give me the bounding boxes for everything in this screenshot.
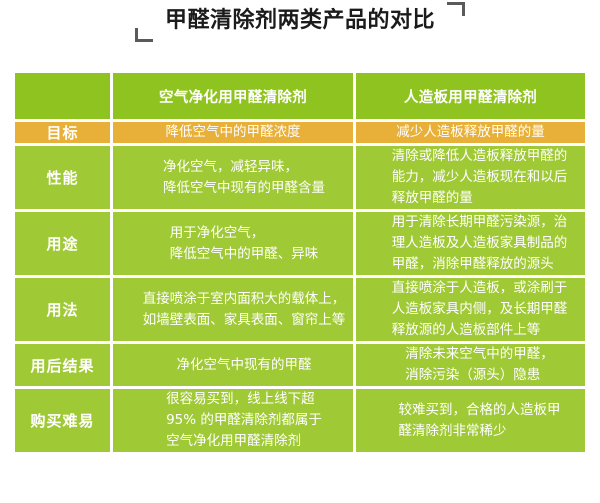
cell-text-line: 消除污染（源头）隐患	[405, 365, 554, 386]
corner-bracket-bottom-left-icon	[135, 28, 153, 42]
cell-air-1: 净化空气，减轻异味，降低空气中现有的甲醛含量	[113, 146, 353, 209]
cell-text-line: 醛清除剂非常稀少	[399, 421, 561, 442]
cell-text-line: 空气净化用甲醛清除剂	[166, 431, 322, 452]
row-label-1: 性能	[15, 146, 110, 209]
cell-text-line: 净化空气中现有的甲醛	[177, 355, 312, 376]
cell-text-block: 清除未来空气中的甲醛，消除污染（源头）隐患	[405, 344, 554, 386]
row-label-0: 目标	[15, 122, 110, 143]
cell-text-line: 降低空气中现有的甲醛含量	[163, 178, 325, 199]
cell-text-line: 释放源的人造板部件上等	[392, 320, 568, 341]
table-row: 性能净化空气，减轻异味，降低空气中现有的甲醛含量清除或降低人造板释放甲醛的能力，…	[15, 146, 585, 209]
cell-text-line: 理人造板及人造板家具制品的	[392, 233, 568, 254]
cell-text-line: 降低空气中的甲醛、异味	[170, 244, 319, 265]
corner-bracket-top-right-icon	[447, 2, 465, 16]
cell-text-block: 直接喷涂于室内面积大的载体上，如墙壁表面、家具表面、窗帘上等	[143, 289, 346, 331]
cell-text-line: 甲醛，消除甲醛释放的源头	[392, 254, 568, 275]
cell-text-block: 较难买到，合格的人造板甲醛清除剂非常稀少	[399, 400, 561, 442]
cell-board-0: 减少人造板释放甲醛的量	[356, 122, 585, 143]
cell-board-5: 较难买到，合格的人造板甲醛清除剂非常稀少	[356, 389, 585, 452]
cell-text-line: 95% 的甲醛清除剂都属于	[166, 410, 322, 431]
cell-text-line: 用于清除长期甲醛污染源，治	[392, 212, 568, 233]
cell-text-block: 用于净化空气，降低空气中的甲醛、异味	[170, 223, 319, 265]
cell-text-block: 直接喷涂于人造板，或涂刷于人造板家具内侧，及长期甲醛释放源的人造板部件上等	[392, 278, 568, 341]
cell-text-block: 很容易买到，线上线下超95% 的甲醛清除剂都属于空气净化用甲醛清除剂	[166, 389, 322, 452]
comparison-table: 空气净化用甲醛清除剂人造板用甲醛清除剂目标降低空气中的甲醛浓度减少人造板释放甲醛…	[12, 70, 588, 455]
cell-text-line: 较难买到，合格的人造板甲	[399, 400, 561, 421]
cell-text-line: 很容易买到，线上线下超	[166, 389, 322, 410]
cell-text-line: 人造板家具内侧，及长期甲醛	[392, 299, 568, 320]
cell-text-line: 清除未来空气中的甲醛，	[405, 344, 554, 365]
table-header-row: 空气净化用甲醛清除剂人造板用甲醛清除剂	[15, 73, 585, 119]
column-header-air: 空气净化用甲醛清除剂	[113, 73, 353, 119]
cell-text-line: 如墙壁表面、家具表面、窗帘上等	[143, 310, 346, 331]
cell-air-2: 用于净化空气，降低空气中的甲醛、异味	[113, 212, 353, 275]
table-row: 目标降低空气中的甲醛浓度减少人造板释放甲醛的量	[15, 122, 585, 143]
table-row: 用途用于净化空气，降低空气中的甲醛、异味用于清除长期甲醛污染源，治理人造板及人造…	[15, 212, 585, 275]
cell-text-line: 用于净化空气，	[170, 223, 319, 244]
cell-air-5: 很容易买到，线上线下超95% 的甲醛清除剂都属于空气净化用甲醛清除剂	[113, 389, 353, 452]
cell-board-3: 直接喷涂于人造板，或涂刷于人造板家具内侧，及长期甲醛释放源的人造板部件上等	[356, 278, 585, 341]
table-row: 用后结果净化空气中现有的甲醛清除未来空气中的甲醛，消除污染（源头）隐患	[15, 344, 585, 386]
cell-text-line: 直接喷涂于人造板，或涂刷于	[392, 278, 568, 299]
row-label-3: 用法	[15, 278, 110, 341]
row-label-5: 购买难易	[15, 389, 110, 452]
cell-air-0: 降低空气中的甲醛浓度	[113, 122, 353, 143]
page-title-area: 甲醛清除剂两类产品的对比	[0, 0, 600, 62]
page-title: 甲醛清除剂两类产品的对比	[165, 6, 435, 36]
cell-text-line: 能力，减少人造板现在和以后	[392, 167, 568, 188]
cell-text-block: 用于清除长期甲醛污染源，治理人造板及人造板家具制品的甲醛，消除甲醛释放的源头	[392, 212, 568, 275]
cell-text-block: 净化空气中现有的甲醛	[177, 355, 312, 376]
cell-air-3: 直接喷涂于室内面积大的载体上，如墙壁表面、家具表面、窗帘上等	[113, 278, 353, 341]
table-row: 购买难易很容易买到，线上线下超95% 的甲醛清除剂都属于空气净化用甲醛清除剂较难…	[15, 389, 585, 452]
cell-text-block: 净化空气，减轻异味，降低空气中现有的甲醛含量	[163, 157, 325, 199]
cell-air-4: 净化空气中现有的甲醛	[113, 344, 353, 386]
cell-board-1: 清除或降低人造板释放甲醛的能力，减少人造板现在和以后释放甲醛的量	[356, 146, 585, 209]
cell-text-line: 直接喷涂于室内面积大的载体上，	[143, 289, 346, 310]
row-label-2: 用途	[15, 212, 110, 275]
row-label-4: 用后结果	[15, 344, 110, 386]
cell-board-2: 用于清除长期甲醛污染源，治理人造板及人造板家具制品的甲醛，消除甲醛释放的源头	[356, 212, 585, 275]
cell-text-line: 净化空气，减轻异味，	[163, 157, 325, 178]
cell-text-line: 清除或降低人造板释放甲醛的	[392, 146, 568, 167]
cell-text-block: 清除或降低人造板释放甲醛的能力，减少人造板现在和以后释放甲醛的量	[392, 146, 568, 209]
cell-text-line: 释放甲醛的量	[392, 188, 568, 209]
table-row: 用法直接喷涂于室内面积大的载体上，如墙壁表面、家具表面、窗帘上等直接喷涂于人造板…	[15, 278, 585, 341]
title-with-brackets: 甲醛清除剂两类产品的对比	[151, 6, 449, 36]
column-header-board: 人造板用甲醛清除剂	[356, 73, 585, 119]
header-cell-blank	[15, 73, 110, 119]
cell-board-4: 清除未来空气中的甲醛，消除污染（源头）隐患	[356, 344, 585, 386]
